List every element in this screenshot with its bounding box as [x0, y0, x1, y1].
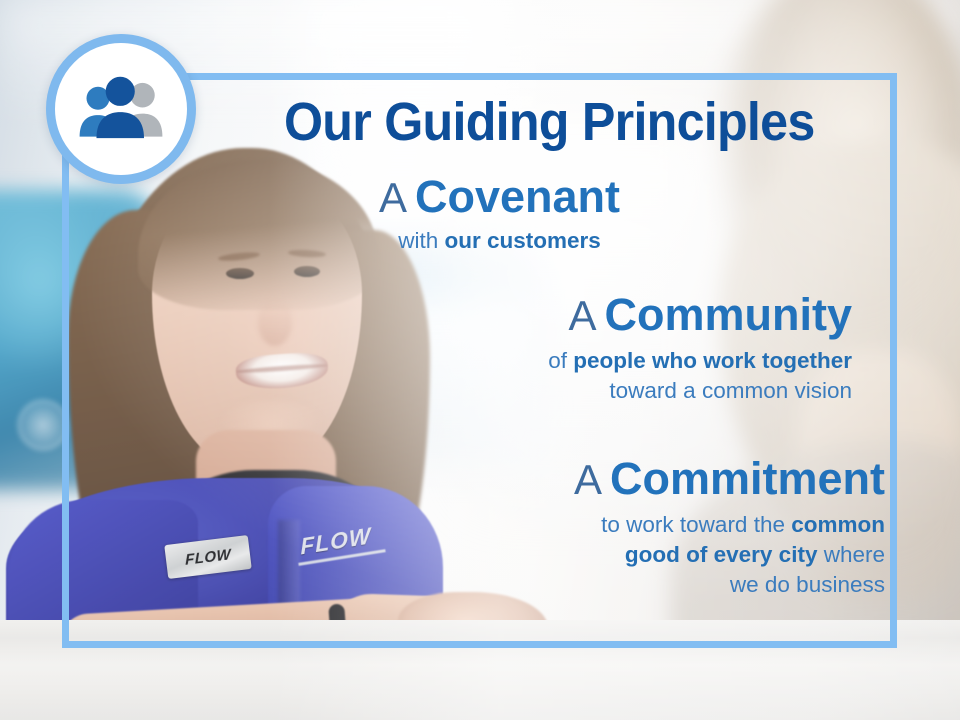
detail-segment: toward a common vision — [609, 378, 852, 403]
detail-segment: we do business — [730, 572, 885, 597]
principle-article: A — [568, 292, 596, 339]
detail-segment-bold: good of every city — [625, 542, 818, 567]
detail-segment: where — [817, 542, 885, 567]
principle-detail: with our customers — [102, 226, 897, 256]
detail-line: we do business — [62, 570, 885, 600]
principle-covenant: ACovenant with our customers — [62, 173, 897, 256]
detail-segment-bold: people who work together — [573, 348, 852, 373]
principle-community: ACommunity of people who work together t… — [62, 291, 897, 406]
principle-heading: ACommunity — [62, 291, 852, 338]
detail-segment: to work toward the — [601, 512, 791, 537]
principle-article: A — [379, 174, 407, 221]
principle-heading: ACommitment — [62, 455, 885, 502]
detail-line: good of every city where — [62, 540, 885, 570]
detail-line: of people who work together — [62, 346, 852, 376]
detail-segment: with — [398, 228, 444, 253]
detail-line: toward a common vision — [62, 376, 852, 406]
detail-segment-bold: common — [791, 512, 885, 537]
principle-detail: of people who work together toward a com… — [62, 346, 852, 405]
principle-keyword: Commitment — [610, 453, 885, 504]
detail-line: to work toward the common — [62, 510, 885, 540]
principle-commitment: ACommitment to work toward the common go… — [62, 455, 897, 599]
page-title: Our Guiding Principles — [91, 95, 868, 150]
poster-copy: Our Guiding Principles ACovenant with ou… — [62, 73, 897, 648]
principle-detail: to work toward the common good of every … — [62, 510, 885, 599]
detail-segment: of — [548, 348, 573, 373]
detail-segment-bold: our customers — [444, 228, 600, 253]
principle-heading: ACovenant — [102, 173, 897, 220]
principle-keyword: Covenant — [415, 171, 620, 222]
detail-line: with our customers — [102, 226, 897, 256]
principle-keyword: Community — [605, 289, 853, 340]
principle-article: A — [574, 456, 602, 503]
poster-canvas: FLOW FLOW Our Guid — [0, 0, 960, 720]
